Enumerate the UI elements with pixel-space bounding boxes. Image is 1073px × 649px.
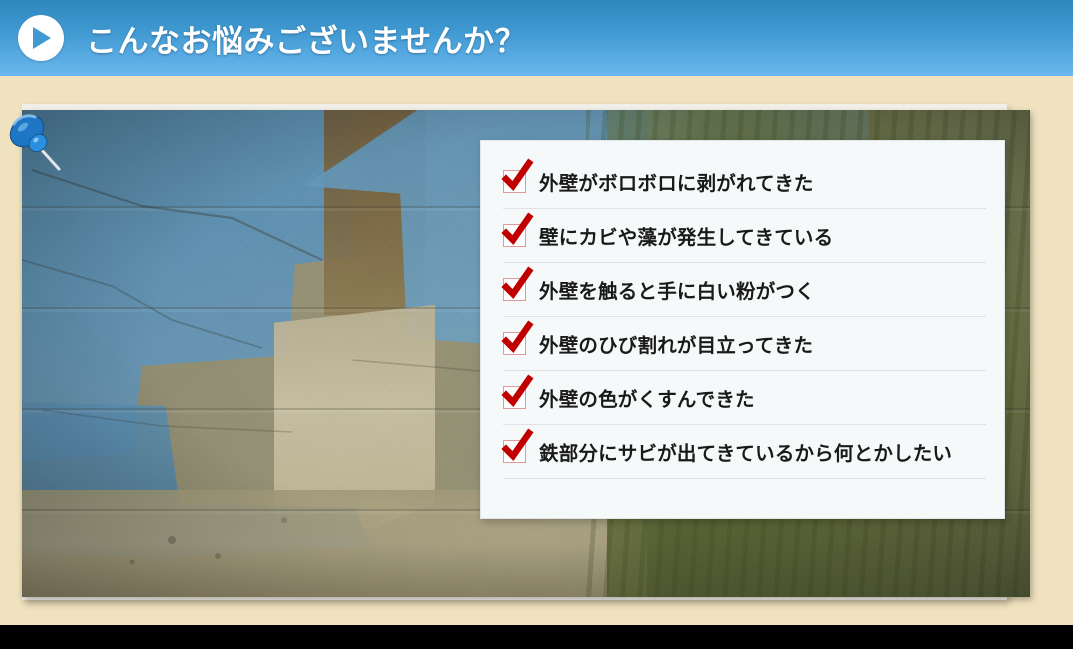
- checkbox-checked-icon[interactable]: [503, 332, 526, 355]
- page-root: こんなお悩みございませんか？: [0, 0, 1073, 649]
- checklist-item[interactable]: 壁にカビや藻が発生してきている: [503, 209, 986, 263]
- checkbox-checked-icon[interactable]: [503, 386, 526, 409]
- checkbox-checked-icon[interactable]: [503, 224, 526, 247]
- checklist-item[interactable]: 外壁の色がくすんできた: [503, 371, 986, 425]
- checklist-panel: 外壁がボロボロに剥がれてきた 壁にカビや藻が発生してきている 外壁を触ると手に白…: [480, 140, 1005, 519]
- checklist-item-label: 外壁のひび割れが目立ってきた: [539, 329, 813, 358]
- checkbox-checked-icon[interactable]: [503, 170, 526, 193]
- checklist-item[interactable]: 鉄部分にサビが出てきているから何とかしたい: [503, 425, 986, 479]
- checklist-item[interactable]: 外壁を触ると手に白い粉がつく: [503, 263, 986, 317]
- page-title: こんなお悩みございませんか？: [86, 16, 526, 61]
- checklist-item-label: 壁にカビや藻が発生してきている: [539, 221, 833, 250]
- checklist-item-label: 外壁の色がくすんできた: [539, 383, 755, 412]
- play-circle-icon: [18, 15, 64, 61]
- checklist-item-label: 外壁がボロボロに剥がれてきた: [539, 167, 814, 196]
- checklist-item[interactable]: 外壁がボロボロに剥がれてきた: [503, 155, 986, 209]
- checklist-item-label: 鉄部分にサビが出てきているから何とかしたい: [539, 437, 952, 466]
- checklist-item-label: 外壁を触ると手に白い粉がつく: [539, 275, 815, 304]
- checkbox-checked-icon[interactable]: [503, 440, 526, 463]
- checklist-item[interactable]: 外壁のひび割れが目立ってきた: [503, 317, 986, 371]
- bottom-bar: [0, 625, 1073, 649]
- page-header: こんなお悩みございませんか？: [0, 0, 1073, 76]
- pushpin-icon: [2, 106, 64, 172]
- checkbox-checked-icon[interactable]: [503, 278, 526, 301]
